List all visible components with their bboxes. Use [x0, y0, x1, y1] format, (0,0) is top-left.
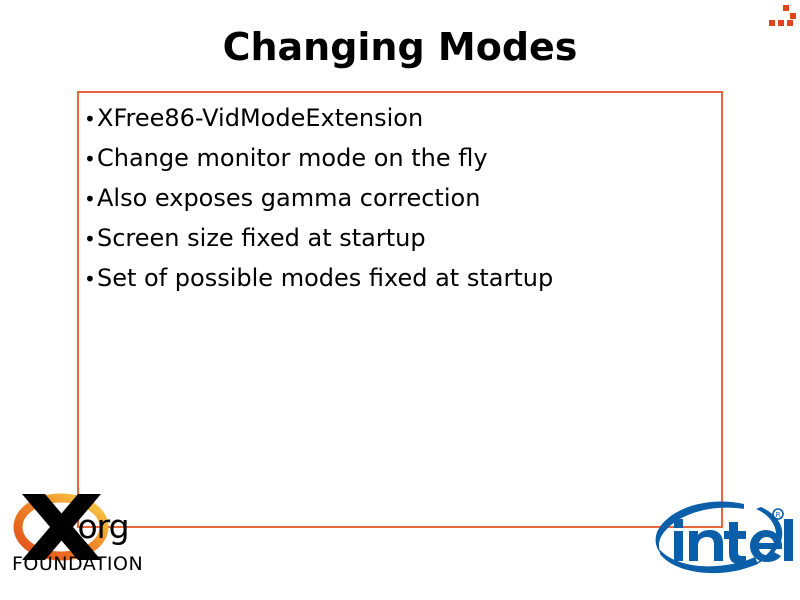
- slide-title: Changing Modes: [0, 24, 800, 70]
- list-item: • Set of possible modes fixed at startup: [84, 259, 724, 299]
- bullet-icon: •: [84, 260, 97, 299]
- bullet-icon: •: [84, 100, 97, 139]
- list-item: • Change monitor mode on the fly: [84, 139, 724, 179]
- intel-logo: R: [648, 498, 796, 584]
- list-item-label: XFree86-VidModeExtension: [97, 99, 423, 138]
- slide-canvas: Changing Modes • XFree86-VidModeExtensio…: [0, 0, 800, 600]
- svg-text:R: R: [776, 511, 781, 519]
- intel-registered-icon: R: [773, 509, 783, 519]
- bullet-icon: •: [84, 140, 97, 179]
- bullet-list: • XFree86-VidModeExtension • Change moni…: [84, 99, 724, 299]
- list-item: • XFree86-VidModeExtension: [84, 99, 724, 139]
- list-item-label: Screen size fixed at startup: [97, 219, 426, 258]
- list-item-label: Set of possible modes fixed at startup: [97, 259, 553, 298]
- list-item-label: Also exposes gamma correction: [97, 179, 480, 218]
- bullet-icon: •: [84, 220, 97, 259]
- list-item: • Also exposes gamma correction: [84, 179, 724, 219]
- list-item-label: Change monitor mode on the fly: [97, 139, 488, 178]
- xorg-dotorg-label: .org: [68, 507, 129, 547]
- xorg-foundation-logo: .org FOUNDATION: [4, 490, 154, 596]
- bullet-icon: •: [84, 180, 97, 219]
- list-item: • Screen size fixed at startup: [84, 219, 724, 259]
- xorg-foundation-label: FOUNDATION: [12, 552, 143, 576]
- corner-dot: [790, 13, 796, 19]
- corner-dot: [783, 5, 789, 11]
